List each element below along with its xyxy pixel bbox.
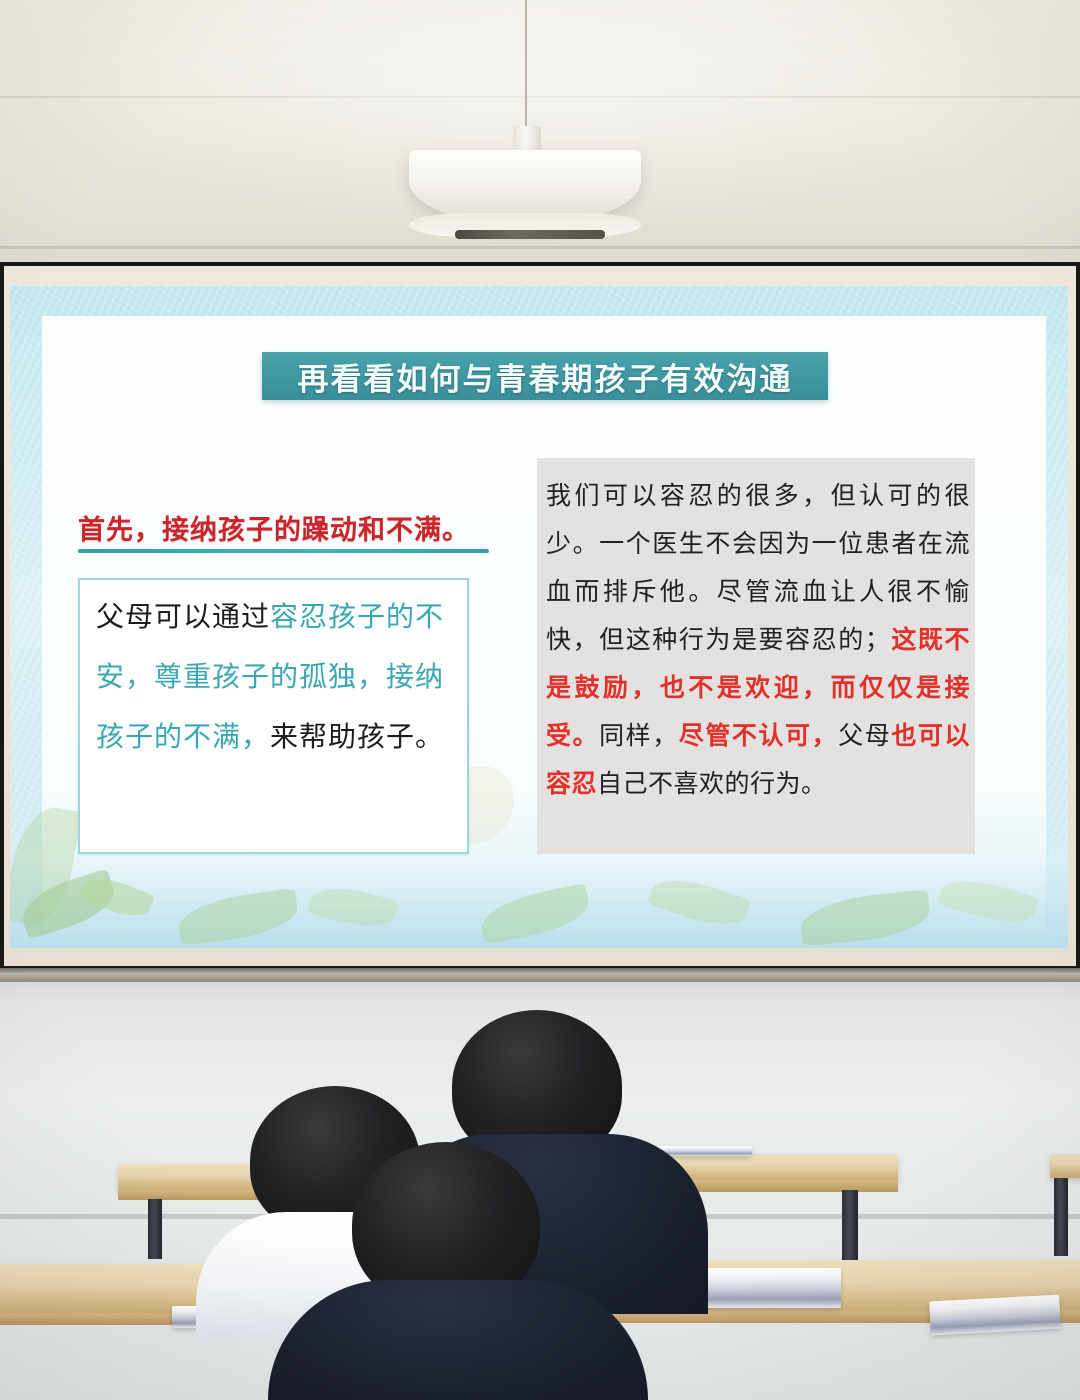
left-text-box-content: 父母可以通过容忍孩子的不安，尊重孩子的孤独，接纳孩子的不满，来帮助孩子。 [96,588,456,768]
lead-statement: 首先，接纳孩子的躁动和不满。 [78,508,498,547]
ceiling-seam [0,96,1080,98]
slide-title: 再看看如何与青春期孩子有效沟通 [262,352,828,400]
lamp-tube [455,230,605,239]
ceiling-lower-seam [0,246,1080,249]
desk-back-far-right [1050,1154,1080,1178]
desk-back-far-right-leg [1054,1178,1068,1256]
student-front-body [268,1280,648,1400]
book-stack-right [929,1295,1061,1336]
right-seg-2: 同样， [599,723,679,750]
right-seg-4: 父母 [838,723,891,750]
right-panel-content: 我们可以容忍的很多，但认可的很少。一个医生不会因为一位患者在流血而排斥他。尽管流… [546,473,970,809]
desk-back-right-leg [842,1190,858,1266]
chalk-tray [0,968,1080,982]
left-seg-0: 父母可以通过 [96,602,270,633]
screenshot-root: 再看看如何与青春期孩子有效沟通 首先，接纳孩子的躁动和不满。 父母可以通过容忍孩… [0,0,1080,1400]
lead-underline [78,549,489,553]
left-seg-2: 来帮助孩子。 [270,722,444,753]
right-seg-6: 自己不喜欢的行为。 [597,771,827,798]
right-seg-3: 尽管不认可， [679,723,838,750]
classroom-scene [0,968,1080,1400]
desk-back-left-leg [148,1199,162,1259]
lamp-cord [525,0,527,132]
